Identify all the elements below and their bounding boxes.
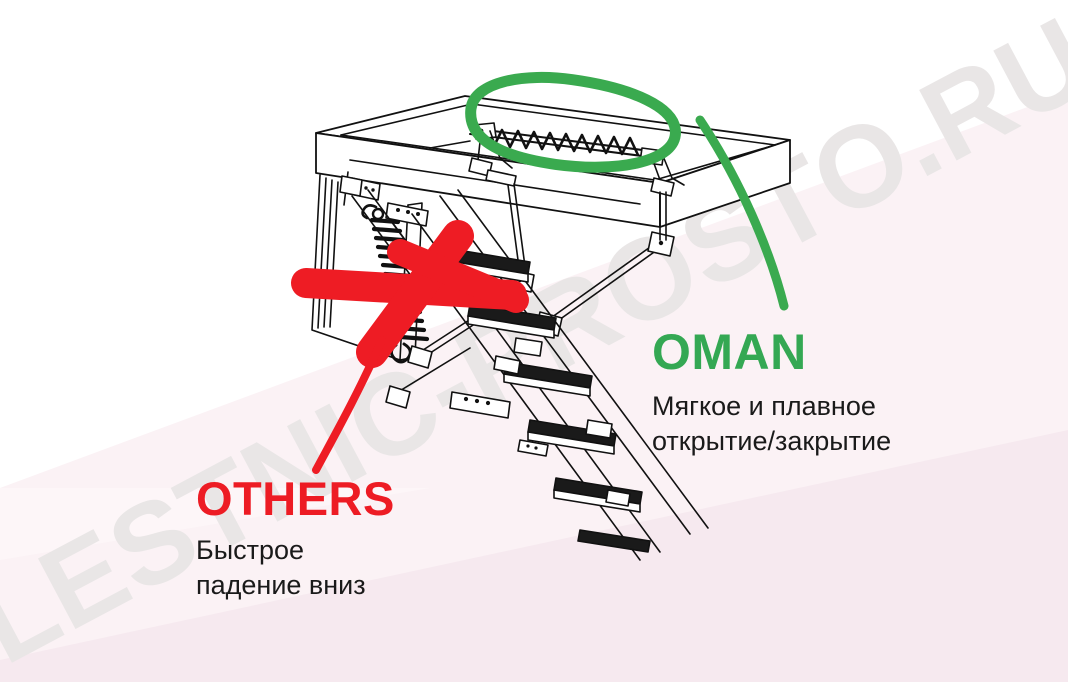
others-label-block: OTHERS Быстрое падение вниз — [196, 475, 395, 602]
oman-subtitle-line-2: открытие/закрытие — [652, 424, 891, 459]
comparison-infographic: LESTNIC-PROSTO.RU — [0, 0, 1068, 682]
others-subtitle: Быстрое падение вниз — [196, 533, 395, 602]
others-subtitle-line-1: Быстрое — [196, 533, 395, 568]
oman-subtitle-line-1: Мягкое и плавное — [652, 389, 891, 424]
text-labels: OMAN Мягкое и плавное открытие/закрытие … — [0, 0, 1068, 682]
others-title: OTHERS — [196, 475, 395, 522]
oman-label-block: OMAN Мягкое и плавное открытие/закрытие — [652, 327, 891, 458]
oman-subtitle: Мягкое и плавное открытие/закрытие — [652, 389, 891, 458]
others-subtitle-line-2: падение вниз — [196, 568, 395, 603]
oman-title: OMAN — [652, 327, 891, 377]
